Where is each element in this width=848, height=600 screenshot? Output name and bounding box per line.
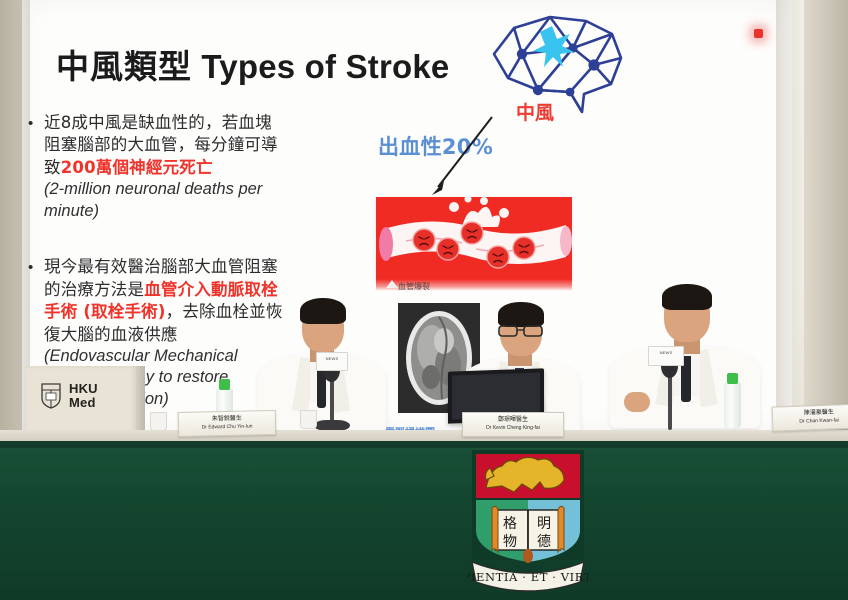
hku-med-board: HKU Med: [26, 366, 136, 435]
microphone-flag: NEWS: [316, 352, 348, 371]
hku-crest: 格 明 物 德 SAPIENTIA · ET · VIRTUS: [468, 448, 588, 594]
drinking-cup: [300, 410, 317, 429]
nameplate-name-en: Dr Chan Kwan-fai: [773, 417, 848, 425]
pointer-arrow-icon: [420, 115, 500, 200]
svg-text:物: 物: [503, 534, 517, 550]
nameplate-name-cjk: 朱智鋭醫生: [179, 415, 275, 423]
tally-light-icon: [754, 29, 763, 38]
ruptured-vessel-illustration: [376, 197, 572, 281]
hku-med-line2: Med: [69, 396, 98, 409]
list-item: • 近8成中風是缺血性的，若血塊 阻塞腦部的大血管，每分鐘可導 致200萬個神經…: [26, 112, 344, 222]
mic-flag-text: NEWS: [649, 350, 683, 355]
nameplate-right: 陳灌豪醫生 Dr Chan Kwan-fai: [772, 403, 848, 431]
press-conference-photo: 中風類型 Types of Stroke • 近8成中風是缺血性的，若血塊 阻塞…: [0, 0, 848, 600]
page-title: 中風類型 Types of Stroke: [56, 40, 450, 88]
vessel-caption: 血管爆裂: [398, 281, 430, 292]
bullet1-line3: 致200萬個神經元死亡: [44, 157, 344, 179]
hku-crest-small-icon: [40, 382, 62, 409]
microphone-flag: NEWS: [648, 346, 684, 366]
bullet1-line4: (2-million neuronal deaths per: [44, 179, 344, 200]
bullet2-line1: 現今最有效醫治腦部大血管阻塞: [44, 256, 344, 278]
wall-right-edge: [804, 0, 848, 440]
nameplate-name-cjk: 陳灌豪醫生: [773, 408, 848, 417]
nameplate-name-en: Dr Kevin Cheng King-fai: [463, 426, 563, 431]
nameplate-center: 鄭璟暉醫生 Dr Kevin Cheng King-fai: [462, 412, 564, 437]
page-title-cjk: 中風類型: [56, 47, 192, 86]
hku-med-board-edge: [136, 366, 145, 435]
nameplate-name-cjk: 鄭璟暉醫生: [463, 417, 563, 423]
svg-text:德: 德: [537, 534, 551, 550]
nameplate-name-en: Dr Edward Chu Yin-lun: [179, 423, 275, 430]
hand: [624, 392, 650, 412]
bullet1-line2: 阻塞腦部的大血管，每分鐘可導: [44, 134, 344, 156]
svg-text:格: 格: [503, 516, 517, 532]
bullet-marker: •: [28, 114, 33, 134]
bullet2-highlight-b: 手術 (取栓手術): [44, 302, 166, 321]
bullet1-line3-prefix: 致: [44, 158, 61, 177]
bottle-cap: [219, 379, 230, 390]
table-skirt: [0, 441, 848, 600]
bottle-cap: [727, 373, 738, 384]
page-title-en: Types of Stroke: [201, 48, 449, 85]
mic-flag-text: NEWS: [317, 356, 347, 361]
bullet1-line5: minute): [44, 201, 344, 222]
bullet1-highlight: 200萬個神經元死亡: [61, 158, 213, 177]
hair: [300, 298, 346, 324]
hair: [662, 284, 712, 310]
water-bottle: [724, 382, 741, 428]
brain-stroke-label: 中風: [516, 98, 554, 125]
bullet2-line2-prefix: 的治療方法是: [44, 280, 144, 299]
eyeglasses-icon: [498, 324, 544, 338]
bullet-marker: •: [28, 258, 33, 278]
brain-network-icon: [478, 8, 658, 118]
crest-motto: SAPIENTIA · ET · VIRTUS: [468, 570, 588, 584]
hku-med-line1: HKU: [69, 382, 98, 395]
svg-text:明: 明: [537, 516, 551, 532]
bullet1-line1: 近8成中風是缺血性的，若血塊: [44, 112, 344, 134]
nameplate-left: 朱智鋭醫生 Dr Edward Chu Yin-lun: [178, 410, 277, 437]
drinking-cup: [150, 412, 167, 431]
